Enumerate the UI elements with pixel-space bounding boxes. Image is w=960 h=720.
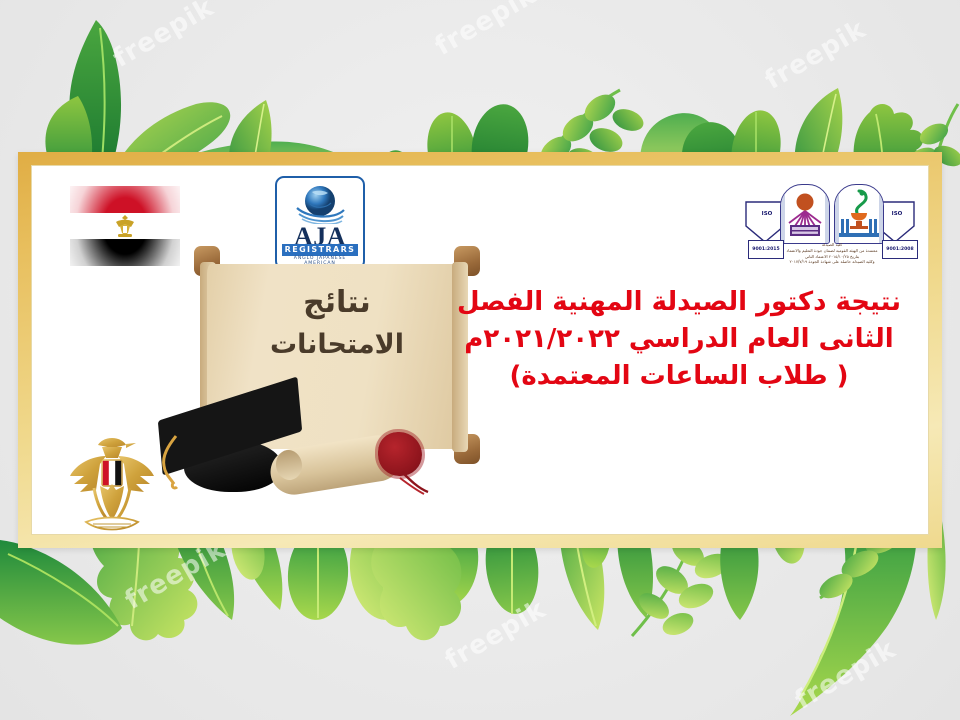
rolled-diploma-icon [270, 424, 420, 506]
headline-line-1: نتيجة دكتور الصيدلة المهنية الفصل [456, 284, 902, 321]
sunburst-emblem-icon [781, 185, 829, 243]
university-caption-line-2: معتمدة من الهيئة القومية لضمان جودة التع… [776, 248, 888, 254]
headline-block: نتيجة دكتور الصيدلة المهنية الفصل الثانى… [456, 284, 902, 395]
iso-badge-right: ISO [880, 204, 914, 224]
headline-line-2: الثانى العام الدراسي ٢٠٢١/٢٠٢٢م [456, 321, 902, 358]
scroll-text-block: نتائج الامتحانات [212, 280, 462, 366]
university-caption-line-4: وكلية الصيدلة حاصلة على شهادة الجودة ٢٠١… [776, 259, 888, 265]
university-emblem-left [780, 184, 830, 244]
poster-canvas: freepik freepik freepik freepik freepik … [0, 0, 960, 720]
iso-badge-left: ISO [750, 204, 784, 224]
cap-tassel-icon [156, 434, 182, 490]
watermark: freepik [440, 594, 551, 676]
announcement-card: AJA REGISTRARS ANGLO JAPANESE AMERICAN I… [18, 152, 942, 548]
scroll-title-line-2: الامتحانات [212, 325, 462, 366]
watermark: freepik [108, 0, 219, 74]
gold-eagle-icon [66, 434, 158, 535]
watermark: freepik [790, 634, 901, 716]
university-emblem-right [834, 184, 884, 244]
university-accreditation-block: ISO ISO [758, 178, 906, 270]
seal-ribbon-icon [398, 470, 432, 496]
watermark: freepik [430, 0, 541, 62]
card-inner-surface: AJA REGISTRARS ANGLO JAPANESE AMERICAN I… [31, 165, 929, 535]
scroll-title-line-1: نتائج [212, 280, 462, 325]
bowl-of-hygieia-icon [835, 185, 883, 243]
globe-icon [294, 184, 346, 224]
university-caption: كلية الصيدلة معتمدة من الهيئة القومية لض… [776, 242, 888, 265]
egypt-coat-of-arms [66, 434, 158, 535]
headline-line-3: ( طلاب الساعات المعتمدة) [456, 358, 902, 395]
watermark: freepik [760, 14, 871, 96]
